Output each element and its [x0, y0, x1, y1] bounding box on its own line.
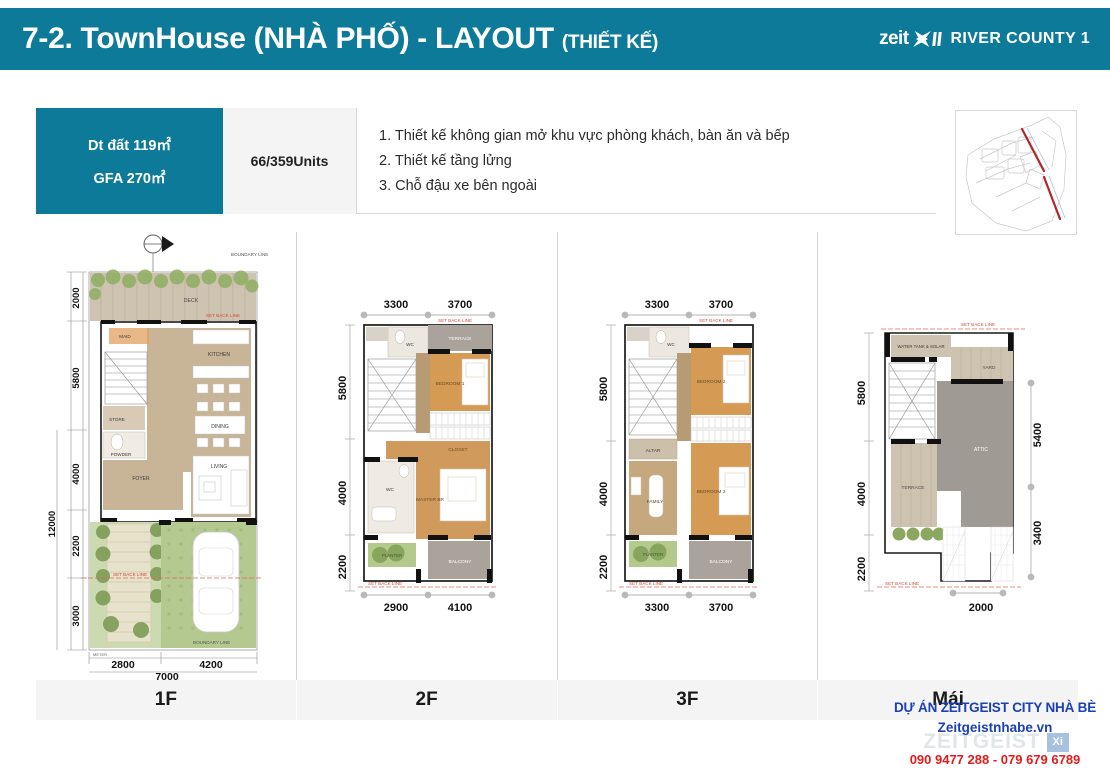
- room-label-balcony-3f: BALCONY: [709, 559, 733, 565]
- room-label-master-br: MASTER BR: [416, 497, 445, 503]
- room-label-yard: YARD: [982, 365, 996, 371]
- floor-plan-1f[interactable]: DECK BOUNDARY LINE SET BACK LINE MAID: [36, 232, 296, 680]
- dim-2f-bottom-0: 2900: [384, 602, 408, 614]
- dim-2f-top-1: 3700: [448, 299, 472, 311]
- room-label-kitchen: KITCHEN: [208, 352, 230, 358]
- room-label-altar: ALTAR: [646, 448, 661, 454]
- dim-roof-left-0: 5800: [856, 381, 868, 405]
- floor-plan-panels: DECK BOUNDARY LINE SET BACK LINE MAID: [36, 232, 1078, 680]
- room-label-living: LIVING: [211, 464, 228, 470]
- room-label-terrace-roof: TERRACE: [901, 485, 924, 491]
- brand-logo: zeit RIVER COUNTY 1: [879, 28, 1110, 50]
- area-summary: Dt đất 119㎡ GFA 270㎡: [36, 108, 223, 214]
- dim-2f-left-1: 4000: [337, 481, 349, 505]
- zeitgeist-x-icon: [911, 29, 947, 49]
- room-label-store: STORE: [109, 417, 125, 422]
- note-set-back-top-2f: SET BACK LINE: [438, 318, 472, 323]
- room-label-wc-2: WC: [386, 487, 395, 493]
- dim-3f-top-1: 3700: [709, 299, 733, 311]
- room-label-terrace: TERRACE: [449, 336, 472, 342]
- gfa-value: GFA 270㎡: [94, 167, 166, 188]
- dim-roof-right-1: 3400: [1032, 521, 1044, 545]
- dim-roof-left-1: 4000: [856, 482, 868, 506]
- tab-3f[interactable]: 3F: [557, 680, 818, 720]
- watermark-logo-badge: Xi: [1047, 733, 1069, 752]
- dim-3f-left-0: 5800: [598, 377, 610, 401]
- note-set-back-top: SET BACK LINE: [206, 313, 240, 318]
- watermark-phone: 090 9477 288 - 079 679 6789: [880, 752, 1110, 767]
- room-label-bedroom2: BEDROOM 2: [696, 379, 725, 385]
- dim-1f-left-4: 3000: [71, 605, 82, 626]
- room-label-powder: POWDER: [111, 452, 132, 457]
- list-item: 3. Chỗ đậu xe bên ngoài: [379, 178, 936, 194]
- note-set-back-top-roof: SET BACK LINE: [961, 322, 995, 327]
- list-item: 2. Thiết kế tầng lửng: [379, 153, 936, 169]
- room-label-water-tank: WATER TANK & SOLAR: [897, 344, 944, 349]
- room-label-attic: ATTIC: [974, 447, 988, 453]
- room-label-planter-3f: PLANTER: [643, 552, 663, 557]
- room-label-foyer: FOYER: [132, 476, 150, 482]
- room-label-bedroom3: BEDROOM 3: [696, 489, 725, 495]
- dim-1f-bottom-0: 2800: [111, 659, 135, 671]
- dim-1f-left-total: 12000: [47, 511, 58, 537]
- dim-2f-left-0: 5800: [337, 376, 349, 400]
- note-set-back-bottom: SET BACK LINE: [113, 572, 147, 577]
- note-set-back-bottom-2f: SET BACK LINE: [368, 581, 402, 586]
- dim-3f-bottom-0: 3300: [645, 602, 669, 614]
- title-sub: (THIẾT KẾ): [562, 32, 658, 53]
- dim-3f-bottom-1: 3700: [709, 602, 733, 614]
- note-boundary-line-top: BOUNDARY LINE: [231, 252, 268, 257]
- floor-plan-3f[interactable]: 3300 3700 SET BACK LINE WC: [557, 232, 818, 680]
- note-boundary-line-bottom: BOUNDARY LINE: [193, 640, 230, 645]
- info-bar: Dt đất 119㎡ GFA 270㎡ 66/359Units 1. Thiế…: [36, 108, 936, 214]
- note-set-back-top-3f: SET BACK LINE: [699, 318, 733, 323]
- tab-2f[interactable]: 2F: [296, 680, 557, 720]
- floor-plan-roof[interactable]: SET BACK LINE WATER TANK & SOLAR YARD: [817, 232, 1078, 680]
- units-count: 66/359Units: [223, 108, 356, 214]
- room-label-planter: PLANTER: [382, 553, 402, 558]
- dim-1f-left-3: 2200: [71, 535, 82, 556]
- north-arrow-icon: [144, 235, 174, 272]
- room-label-dining: DINING: [211, 424, 229, 430]
- title-main: TownHouse (NHÀ PHỐ) - LAYOUT: [81, 22, 554, 55]
- room-label-bedroom1: BEDROOM 1: [436, 381, 465, 387]
- dim-1f-bottom-total: 7000: [155, 671, 179, 680]
- note-set-back-bottom-roof: SET BACK LINE: [885, 581, 919, 586]
- dim-roof-right-0: 5400: [1032, 423, 1044, 447]
- room-label-deck: DECK: [184, 298, 199, 304]
- list-item: 1. Thiết kế không gian mở khu vực phòng …: [379, 128, 936, 144]
- dim-roof-left-2: 2200: [856, 557, 868, 581]
- dim-1f-bottom-1: 4200: [199, 659, 223, 671]
- tab-1f[interactable]: 1F: [36, 680, 296, 720]
- page-title: 7-2. TownHouse (NHÀ PHỐ) - LAYOUT (THIẾT…: [0, 22, 658, 56]
- dim-1f-left-2: 4000: [71, 463, 82, 484]
- brand-zeit-label: zeit: [879, 28, 908, 50]
- room-label-wc-3f: WC: [667, 342, 675, 347]
- note-set-back-bottom-3f: SET BACK LINE: [629, 581, 663, 586]
- dim-2f-top-0: 3300: [384, 299, 408, 311]
- land-area-value: Dt đất 119㎡: [88, 134, 171, 155]
- watermark-website: Zeitgeistnhabe.vn: [880, 720, 1110, 735]
- room-label-maid: MAID: [119, 334, 131, 339]
- dim-2f-bottom-1: 4100: [448, 602, 472, 614]
- dim-3f-left-1: 4000: [598, 482, 610, 506]
- watermark-project-name: DỰ ÁN ZEITGEIST CITY NHÀ BÈ: [880, 700, 1110, 715]
- room-label-closet: CLOSET: [449, 447, 468, 453]
- floor-plan-2f[interactable]: 3300 3700 AC SET BACK LINE TERRACE WC: [296, 232, 557, 680]
- slide-root: 7-2. TownHouse (NHÀ PHỐ) - LAYOUT (THIẾT…: [0, 0, 1110, 768]
- dim-3f-top-0: 3300: [645, 299, 669, 311]
- room-label-balcony: BALCONY: [449, 559, 473, 565]
- room-label-wc-1: WC: [406, 342, 414, 347]
- note-meter: METER: [93, 652, 107, 657]
- room-label-family: FAMILY: [647, 499, 665, 505]
- dim-2f-left-2: 2200: [337, 555, 349, 579]
- site-location-map: [955, 110, 1077, 235]
- feature-list: 1. Thiết kế không gian mở khu vực phòng …: [356, 108, 936, 214]
- brand-river-county-label: RIVER COUNTY 1: [950, 30, 1090, 48]
- title-number: 7-2.: [22, 22, 73, 55]
- dim-3f-left-2: 2200: [598, 555, 610, 579]
- dim-roof-bottom-0: 2000: [968, 602, 992, 614]
- dim-1f-left-0: 2000: [71, 287, 82, 308]
- slide-header: 7-2. TownHouse (NHÀ PHỐ) - LAYOUT (THIẾT…: [0, 8, 1110, 70]
- dim-1f-left-1: 5800: [71, 367, 82, 388]
- car-icon: [193, 532, 239, 632]
- watermark-overlay: ZEITGEIST Xi DỰ ÁN ZEITGEIST CITY NHÀ BÈ…: [880, 700, 1110, 768]
